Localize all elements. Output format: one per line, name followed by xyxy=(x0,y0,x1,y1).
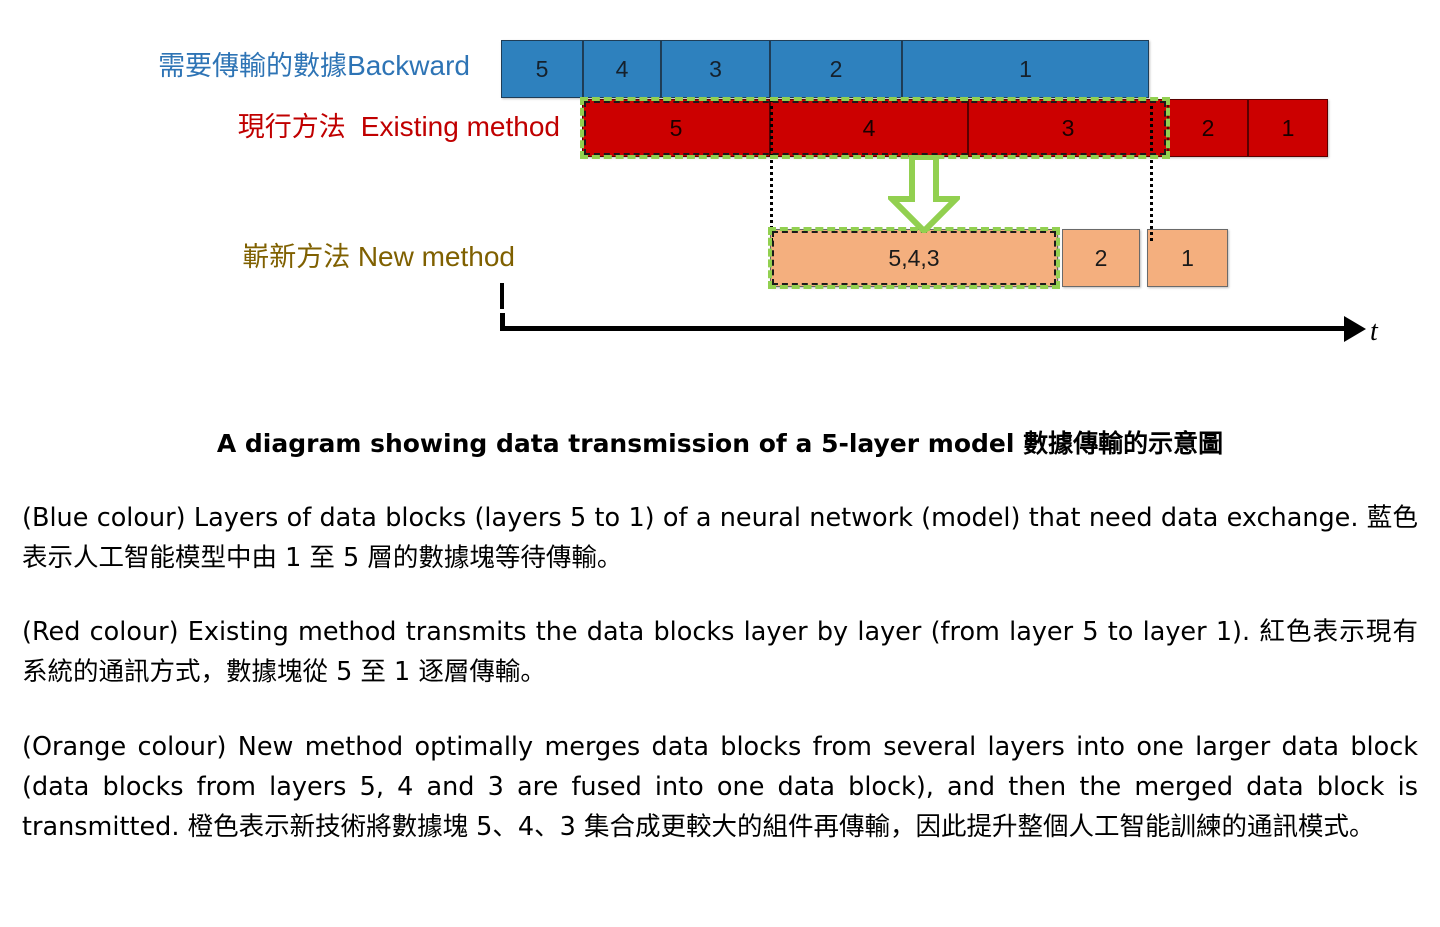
row-label-existing-method: 現行方法 Existing method xyxy=(60,113,560,141)
time-axis-line xyxy=(500,326,1352,331)
row-label-backward-latin: Backward xyxy=(347,50,470,81)
row-label-new-cjk: 嶄新方法 xyxy=(242,242,350,273)
existing-block-5: 5 xyxy=(582,99,770,157)
backward-block-3: 3 xyxy=(661,40,770,98)
caption-paragraph-orange: (Orange colour) New method optimally mer… xyxy=(22,727,1418,847)
new-method-block-2: 2 xyxy=(1062,229,1140,287)
axis-origin-tick xyxy=(500,283,504,309)
backward-block-5: 5 xyxy=(501,40,583,98)
guide-line-left xyxy=(770,99,773,241)
backward-block-2: 2 xyxy=(770,40,902,98)
row-label-existing-cjk: 現行方法 xyxy=(238,112,346,143)
row-label-existing-latin: Existing method xyxy=(361,111,560,142)
caption-paragraph-red: (Red colour) Existing method transmits t… xyxy=(22,612,1418,692)
caption-title: A diagram showing data transmission of a… xyxy=(0,424,1440,460)
existing-block-1: 1 xyxy=(1248,99,1328,157)
row-label-new-method: 嶄新方法 New method xyxy=(60,243,515,271)
time-axis-arrowhead-icon xyxy=(1344,316,1366,342)
new-method-block-1: 1 xyxy=(1147,229,1228,287)
row-label-backward-cjk: 需要傳輸的數據 xyxy=(158,51,347,82)
backward-block-4: 4 xyxy=(583,40,661,98)
caption-paragraph-blue: (Blue colour) Layers of data blocks (lay… xyxy=(22,498,1418,578)
existing-block-2: 2 xyxy=(1168,99,1248,157)
transmission-diagram: 需要傳輸的數據Backward 現行方法 Existing method 嶄新方… xyxy=(0,0,1440,380)
existing-block-3: 3 xyxy=(968,99,1168,157)
row-label-backward: 需要傳輸的數據Backward xyxy=(60,52,470,80)
merge-down-arrow-icon xyxy=(888,155,960,233)
row-label-new-latin: New method xyxy=(358,241,515,272)
new-method-block-543: 5,4,3 xyxy=(770,229,1058,287)
guide-line-right xyxy=(1150,99,1153,241)
existing-block-4: 4 xyxy=(770,99,968,157)
backward-block-1: 1 xyxy=(902,40,1149,98)
time-axis-label: t xyxy=(1370,316,1378,348)
